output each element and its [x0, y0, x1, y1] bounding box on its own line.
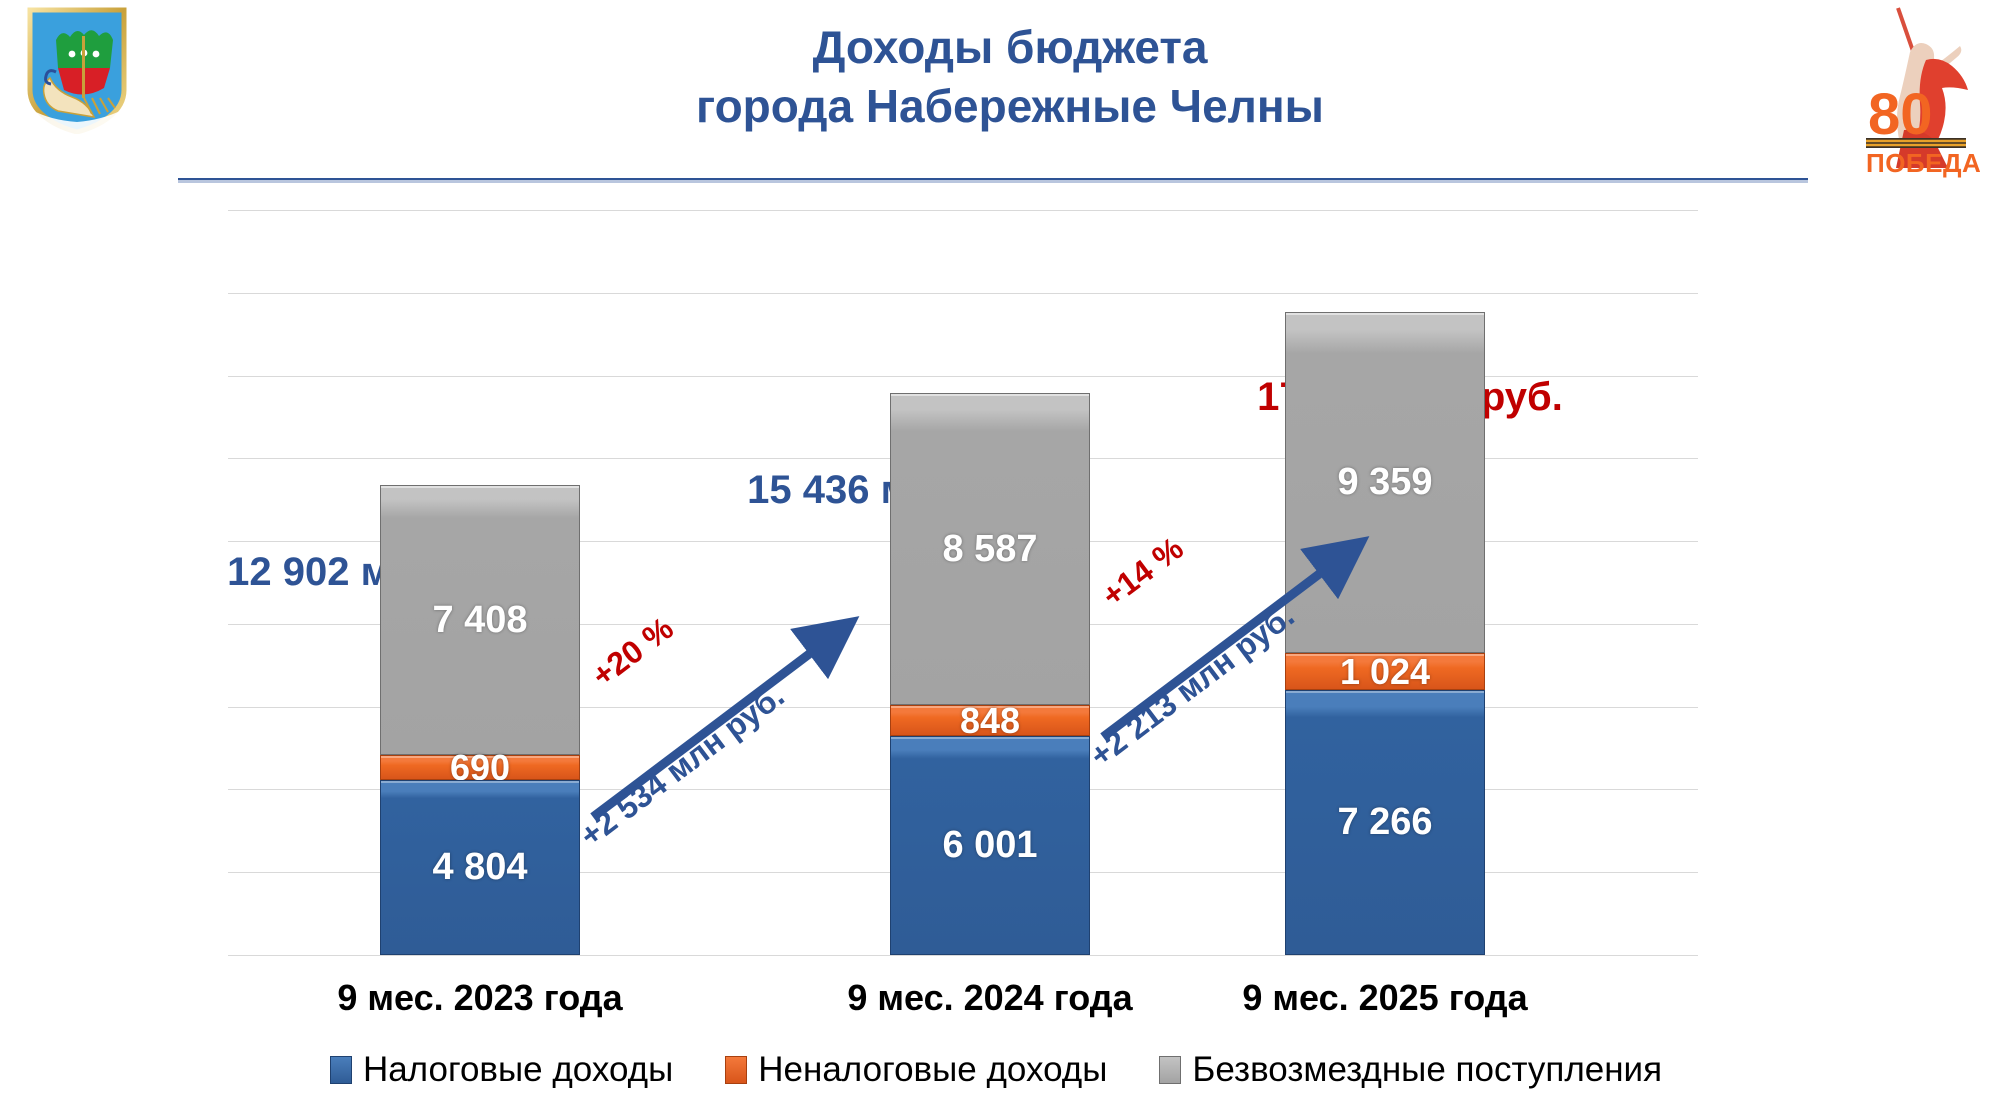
- legend-item-gratuitous[interactable]: Безвозмездные поступления: [1159, 1050, 1662, 1090]
- chart-legend: Налоговые доходы Неналоговые доходы Безв…: [0, 1050, 1992, 1090]
- page-title: Доходы бюджета города Набережные Челны: [230, 18, 1790, 136]
- title-divider: [178, 178, 1808, 183]
- legend-label-tax: Налоговые доходы: [363, 1050, 673, 1090]
- bar-2024[interactable]: 8 587 848 6 001: [890, 393, 1090, 955]
- category-label-2024: 9 мес. 2024 года: [810, 977, 1170, 1019]
- legend-swatch-blue: [330, 1056, 352, 1084]
- growth-annotation-2023-2024: +20 % +2 534 млн руб.: [575, 585, 905, 855]
- legend-item-tax[interactable]: Налоговые доходы: [330, 1050, 673, 1090]
- stacked-bar-chart: 12 902 млн руб. 15 436 млн руб. 17 649 м…: [0, 185, 1992, 1112]
- growth-annotation-2024-2025: +14 % +2 213 млн руб.: [1085, 505, 1415, 775]
- segment-tax-2024[interactable]: 6 001: [890, 736, 1090, 955]
- victory-80-logo-icon: 80 ПОБЕДА!: [1852, 2, 1980, 180]
- segment-nontax-2023[interactable]: 690: [380, 755, 580, 780]
- legend-swatch-orange: [725, 1056, 747, 1084]
- legend-swatch-gray: [1159, 1056, 1181, 1084]
- coat-of-arms-icon: [22, 6, 132, 134]
- legend-item-nontax[interactable]: Неналоговые доходы: [725, 1050, 1107, 1090]
- segment-tax-2023[interactable]: 4 804: [380, 780, 580, 955]
- legend-label-nontax: Неналоговые доходы: [758, 1050, 1107, 1090]
- segment-gratuitous-2023[interactable]: 7 408: [380, 485, 580, 755]
- segment-gratuitous-2024[interactable]: 8 587: [890, 393, 1090, 705]
- category-label-2025: 9 мес. 2025 года: [1205, 977, 1565, 1019]
- legend-label-gratuitous: Безвозмездные поступления: [1192, 1050, 1662, 1090]
- bar-2023[interactable]: 7 408 690 4 804: [380, 485, 580, 955]
- slide-header: Доходы бюджета города Набережные Челны 8…: [0, 0, 1992, 185]
- svg-text:80: 80: [1868, 82, 1933, 147]
- segment-nontax-2024[interactable]: 848: [890, 705, 1090, 736]
- svg-text:ПОБЕДА!: ПОБЕДА!: [1866, 148, 1980, 178]
- category-label-2023: 9 мес. 2023 года: [300, 977, 660, 1019]
